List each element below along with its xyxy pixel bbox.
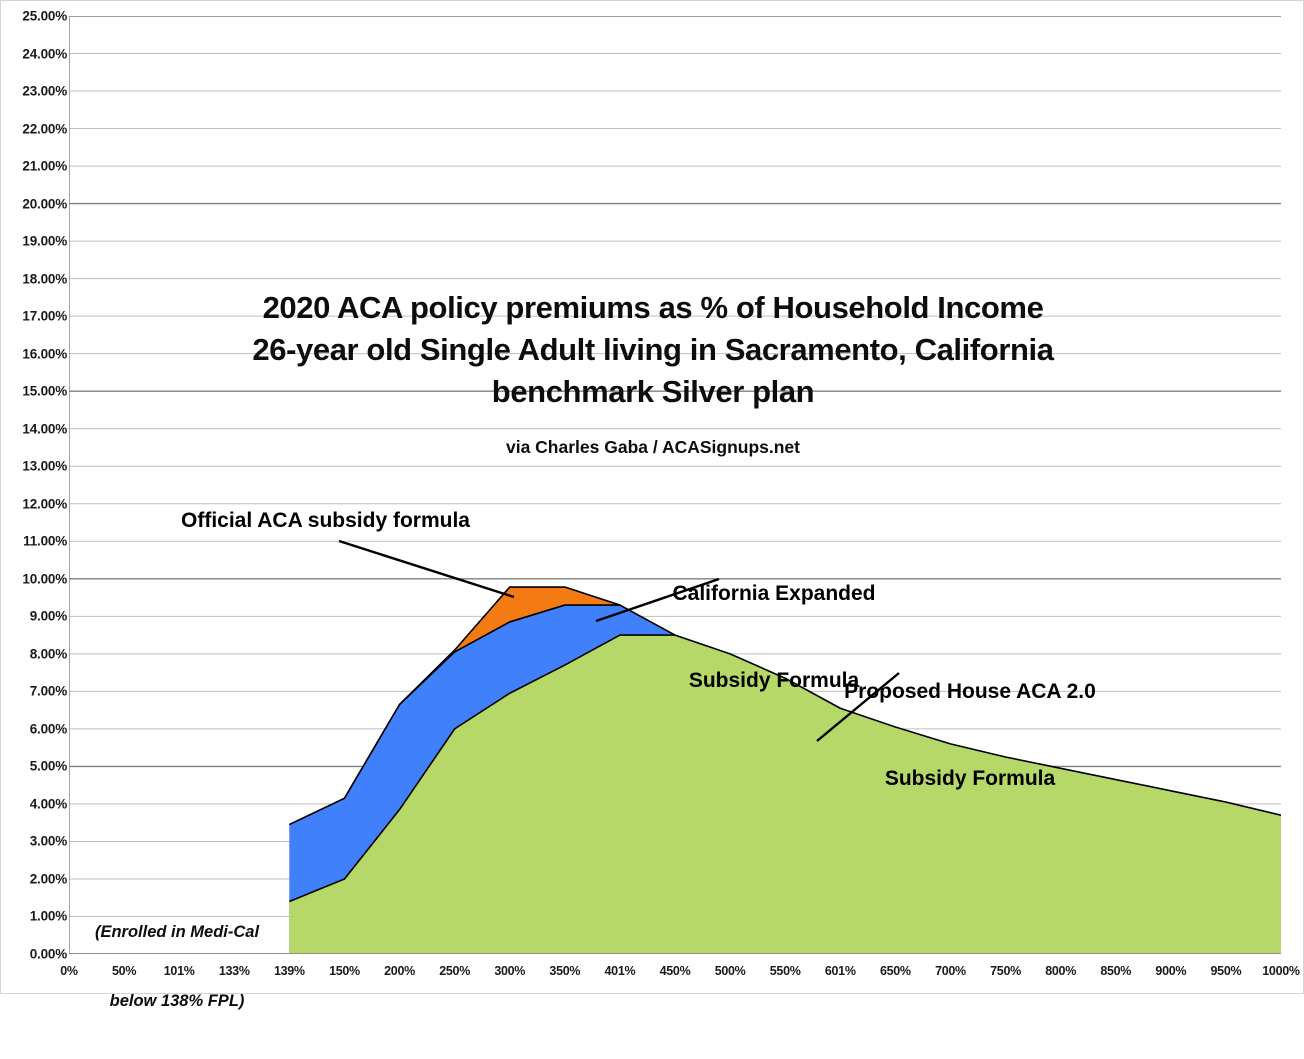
annotation-medi-cal-note: (Enrolled in Medi-Cal below 138% FPL) [77,875,277,1059]
chart-subtitle: via Charles Gaba / ACASignups.net [1,437,1304,458]
x-axis-tick-label: 900% [1155,964,1186,978]
annotation-proposed-house: Proposed House ACA 2.0 Subsidy Formula [825,619,1115,851]
y-axis-tick-label: 10.00% [5,571,67,586]
x-axis-tick-label: 150% [329,964,360,978]
medi-cal-line-1: (Enrolled in Medi-Cal [77,921,277,944]
x-axis-tick-label: 500% [715,964,746,978]
x-axis-tick-label: 650% [880,964,911,978]
y-axis-tick-label: 25.00% [5,9,67,24]
y-axis-tick-label: 21.00% [5,159,67,174]
y-axis-tick-label: 5.00% [5,759,67,774]
x-axis-tick-label: 0% [60,964,77,978]
x-axis-tick-label: 800% [1045,964,1076,978]
x-axis-tick-label: 250% [439,964,470,978]
x-axis-tick-label: 750% [990,964,1021,978]
y-axis-tick-label: 1.00% [5,909,67,924]
title-line-2: 26-year old Single Adult living in Sacra… [1,329,1304,371]
y-axis-tick-label: 19.00% [5,234,67,249]
x-axis-tick-label: 450% [660,964,691,978]
y-axis-tick-label: 12.00% [5,496,67,511]
annotation-official-aca: Official ACA subsidy formula [181,509,470,533]
x-axis-tick-label: 601% [825,964,856,978]
x-axis-tick-label: 350% [549,964,580,978]
x-axis-tick-label: 850% [1100,964,1131,978]
chart-title: 2020 ACA policy premiums as % of Househo… [1,287,1304,413]
x-axis-tick-label: 950% [1211,964,1242,978]
annotation-california-line-1: California Expanded [659,579,889,608]
chart-container: 0.00%1.00%2.00%3.00%4.00%5.00%6.00%7.00%… [0,0,1304,994]
x-axis-tick-label: 300% [494,964,525,978]
y-axis-tick-label: 18.00% [5,271,67,286]
annotation-house-line-1: Proposed House ACA 2.0 [825,677,1115,706]
y-axis-tick-label: 11.00% [5,534,67,549]
x-axis-tick-label: 700% [935,964,966,978]
y-axis-tick-label: 20.00% [5,196,67,211]
y-axis-tick-label: 4.00% [5,796,67,811]
y-axis-tick-label: 8.00% [5,646,67,661]
y-axis-tick-label: 7.00% [5,684,67,699]
title-line-1: 2020 ACA policy premiums as % of Househo… [1,287,1304,329]
y-axis-tick-label: 23.00% [5,84,67,99]
y-axis: 0.00%1.00%2.00%3.00%4.00%5.00%6.00%7.00%… [1,1,67,995]
y-axis-tick-label: 14.00% [5,421,67,436]
y-axis-tick-label: 2.00% [5,871,67,886]
y-axis-tick-label: 24.00% [5,46,67,61]
x-axis-tick-label: 200% [384,964,415,978]
y-axis-tick-label: 3.00% [5,834,67,849]
y-axis-tick-label: 13.00% [5,459,67,474]
y-axis-tick-label: 0.00% [5,947,67,962]
x-axis-tick-label: 401% [605,964,636,978]
x-axis-tick-label: 139% [274,964,305,978]
y-axis-tick-label: 22.00% [5,121,67,136]
title-line-3: benchmark Silver plan [1,371,1304,413]
x-axis-tick-label: 1000% [1262,964,1299,978]
x-axis-tick-label: 550% [770,964,801,978]
annotation-house-line-2: Subsidy Formula [825,764,1115,793]
y-axis-tick-label: 6.00% [5,721,67,736]
medi-cal-line-2: below 138% FPL) [77,990,277,1013]
y-axis-tick-label: 9.00% [5,609,67,624]
